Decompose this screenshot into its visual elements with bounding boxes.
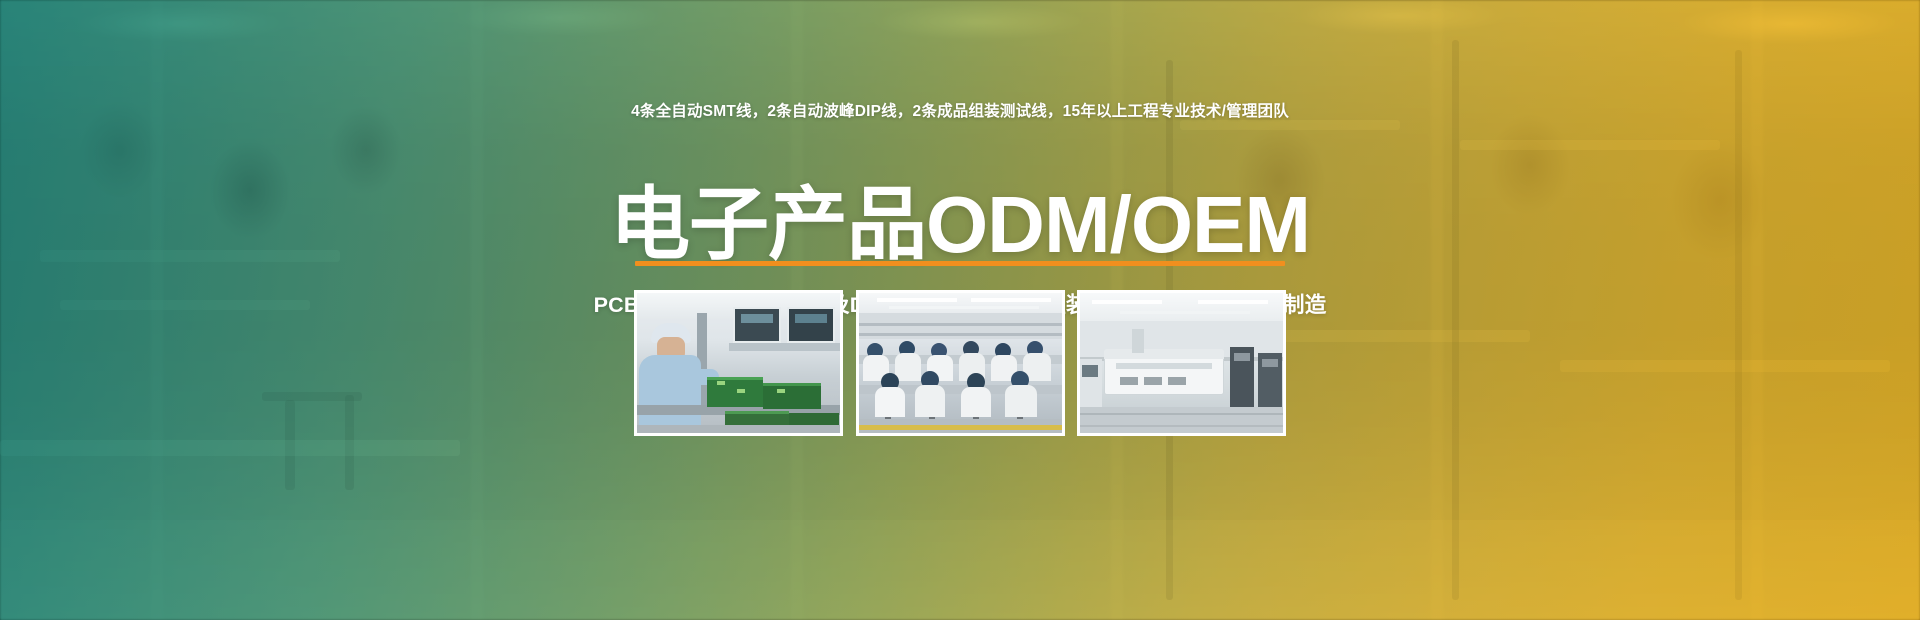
- photo-smt-line-operator: [634, 290, 843, 436]
- promo-banner: 4条全自动SMT线，2条自动波峰DIP线，2条成品组装测试线，15年以上工程专业…: [0, 0, 1920, 620]
- photo-reflow-oven-room-scene: [1080, 293, 1283, 433]
- photo-strip: [634, 290, 1286, 436]
- banner-headline: 电子产品ODM/OEM: [0, 181, 1920, 269]
- photo-assembly-line-workers: [856, 290, 1065, 436]
- photo-reflow-oven-room: [1077, 290, 1286, 436]
- photo-assembly-line-workers-scene: [859, 293, 1062, 433]
- banner-eyebrow-text: 4条全自动SMT线，2条自动波峰DIP线，2条成品组装测试线，15年以上工程专业…: [0, 99, 1920, 121]
- headline-divider: [635, 261, 1285, 266]
- photo-smt-line-operator-scene: [637, 293, 840, 433]
